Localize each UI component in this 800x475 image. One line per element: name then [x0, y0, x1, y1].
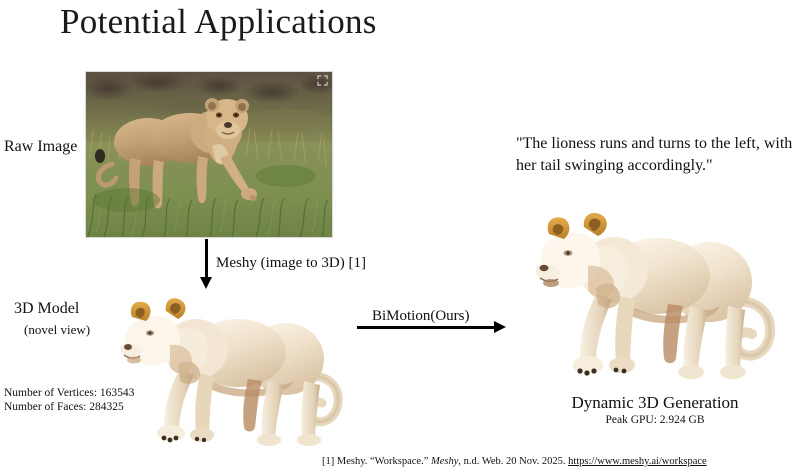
bimotion-arrow-shaft — [357, 326, 497, 329]
page-title: Potential Applications — [60, 2, 377, 42]
meshy-arrow-label: Meshy (image to 3D) [1] — [216, 255, 366, 272]
peak-gpu-label: Peak GPU: 2.924 GB — [520, 414, 790, 426]
citation-prefix: [1] Meshy. “Workspace.” — [322, 456, 431, 467]
prompt-text: "The lioness runs and turns to the left,… — [516, 133, 798, 177]
citation-middle: , n.d. Web. 20 Nov. 2025. — [458, 456, 568, 467]
citation-link[interactable]: https://www.meshy.ai/workspace — [568, 456, 707, 467]
model-3d-sublabel: (novel view) — [24, 322, 90, 338]
expand-icon[interactable] — [317, 75, 328, 86]
bimotion-arrow-head — [494, 321, 506, 333]
bimotion-arrow-label: BiMotion(Ours) — [372, 308, 470, 325]
raw-image-photo[interactable] — [85, 71, 333, 238]
raw-image-label: Raw Image — [4, 138, 77, 156]
citation: [1] Meshy. “Workspace.” Meshy, n.d. Web.… — [322, 456, 707, 467]
model-3d-render-right[interactable] — [524, 196, 786, 392]
output-title: Dynamic 3D Generation — [520, 393, 790, 413]
slide-canvas: Potential Applications Raw Image — [0, 0, 800, 475]
model-3d-render-left[interactable] — [108, 281, 358, 453]
meshy-arrow-shaft — [205, 239, 208, 280]
model-3d-label: 3D Model — [14, 300, 79, 318]
citation-italic-source: Meshy — [431, 456, 458, 467]
